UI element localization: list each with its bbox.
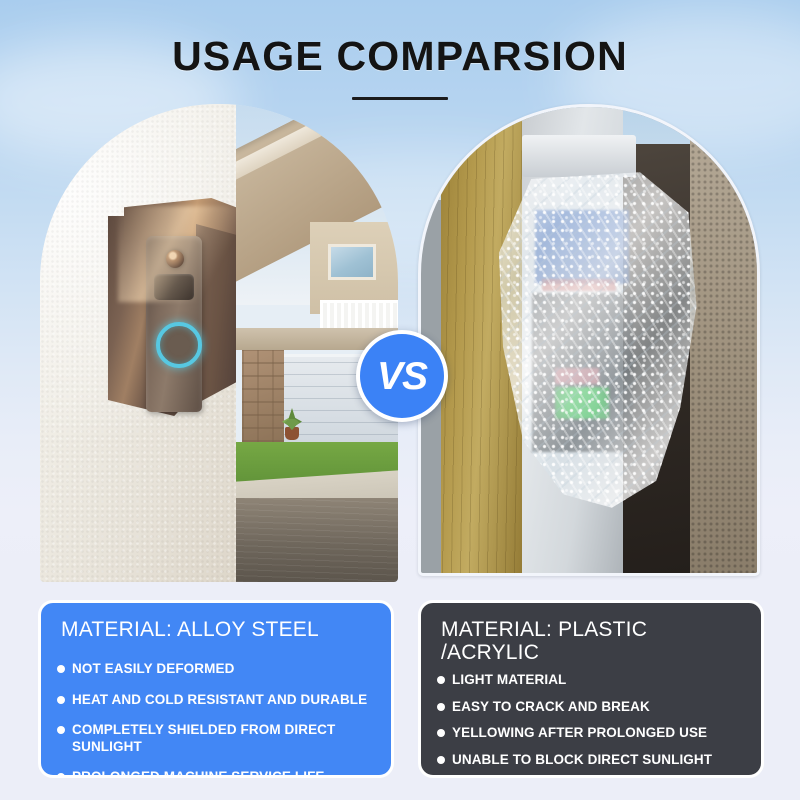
list-item: EASY TO CRACK AND BREAK: [437, 699, 745, 715]
cover-side-wing: [196, 224, 236, 404]
bullet-dot-icon: [57, 773, 65, 778]
page-title: USAGE COMPARSION: [0, 36, 800, 77]
photo-panel-plastic-acrylic: [418, 104, 760, 576]
list-item: LIGHT MATERIAL: [437, 672, 745, 688]
motion-sensor-window: [154, 274, 194, 300]
bullet-dot-icon: [437, 676, 445, 684]
infographic-canvas: USAGE COMPARSION: [0, 0, 800, 800]
list-item: COMPLETELY SHIELDED FROM DIRECT SUNLIGHT: [57, 722, 375, 755]
alloy-doorbell-cover: [108, 198, 238, 418]
list-item: HEAT AND COLD RESISTANT AND DURABLE: [57, 692, 375, 708]
driveway-road: [236, 498, 398, 582]
camera-lens-icon: [166, 250, 184, 268]
feature-list: NOT EASILY DEFORMED HEAT AND COLD RESIST…: [57, 661, 375, 778]
list-item: YELLOWING AFTER PROLONGED USE: [437, 725, 745, 741]
mount-bracket: [522, 135, 636, 177]
concrete-wall: [690, 107, 757, 573]
potted-plant: [280, 406, 304, 440]
list-item: UNABLE TO BLOCK DIRECT SUNLIGHT: [437, 752, 745, 768]
spec-card-alloy-steel: MATERIAL: ALLOY STEEL NOT EASILY DEFORME…: [38, 600, 394, 778]
list-item-label: PROLONGED MACHINE SERVICE LIFE: [72, 769, 325, 778]
card-title: MATERIAL: PLASTIC /ACRYLIC: [441, 618, 745, 664]
list-item-label: UNABLE TO BLOCK DIRECT SUNLIGHT: [452, 752, 712, 768]
list-item-label: NOT EASILY DEFORMED: [72, 661, 234, 677]
photo-panel-alloy-steel: [40, 104, 398, 582]
list-item-label: COMPLETELY SHIELDED FROM DIRECT SUNLIGHT: [72, 722, 375, 755]
house-window: [328, 244, 376, 280]
list-item: NOT EASILY DEFORMED: [57, 661, 375, 677]
list-item-label: LIGHT MATERIAL: [452, 672, 566, 688]
vs-label: VS: [377, 357, 427, 396]
bullet-dot-icon: [437, 729, 445, 737]
list-item-label: EASY TO CRACK AND BREAK: [452, 699, 650, 715]
bullet-dot-icon: [57, 696, 65, 704]
bullet-dot-icon: [437, 703, 445, 711]
bullet-dot-icon: [57, 665, 65, 673]
title-divider: [352, 97, 448, 100]
list-item-label: HEAT AND COLD RESISTANT AND DURABLE: [72, 692, 367, 708]
bullet-dot-icon: [57, 726, 65, 734]
card-title: MATERIAL: ALLOY STEEL: [61, 618, 375, 641]
page-header: USAGE COMPARSION: [0, 36, 800, 100]
list-item-label: YELLOWING AFTER PROLONGED USE: [452, 725, 707, 741]
bullet-dot-icon: [437, 756, 445, 764]
spec-card-plastic-acrylic: MATERIAL: PLASTIC /ACRYLIC LIGHT MATERIA…: [418, 600, 764, 778]
list-item: PROLONGED MACHINE SERVICE LIFE: [57, 769, 375, 778]
stone-veneer: [242, 350, 284, 442]
vs-badge: VS: [356, 330, 448, 422]
doorbell-button-ring: [156, 322, 202, 368]
feature-list: LIGHT MATERIAL EASY TO CRACK AND BREAK Y…: [437, 672, 745, 778]
